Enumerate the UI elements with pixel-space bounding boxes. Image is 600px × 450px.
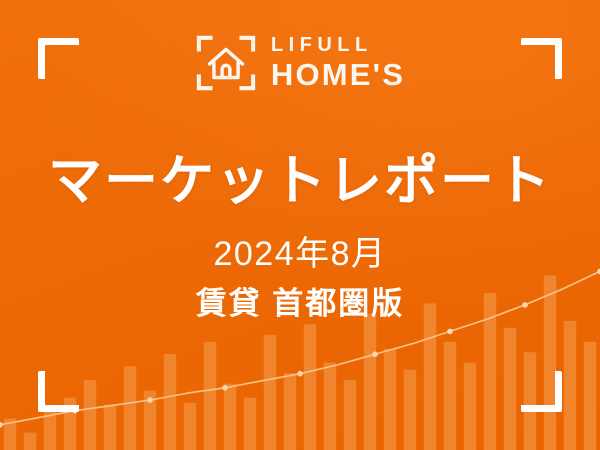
chart-bar [224, 384, 236, 450]
chart-bar [344, 380, 356, 450]
chart-bar [584, 342, 596, 450]
chart-bar [304, 324, 316, 450]
chart-bar [284, 373, 296, 450]
chart-bar [504, 328, 516, 450]
house-in-focus-frame-icon [195, 32, 257, 94]
report-edition: 賃貸 首都圏版 [0, 285, 600, 322]
chart-trend-marker [147, 397, 153, 403]
chart-bar [84, 380, 96, 450]
chart-bar [104, 405, 116, 450]
corner-bracket-bottom-right [521, 371, 562, 412]
chart-bar [444, 342, 456, 450]
chart-trend-marker [222, 385, 228, 391]
lifull-homes-logo: LIFULL HOME'S [0, 32, 600, 94]
logo-wordmark: LIFULL HOME'S [271, 35, 405, 92]
chart-bar [464, 363, 476, 450]
chart-bar [364, 314, 376, 450]
chart-bar [324, 363, 336, 450]
chart-bar [564, 321, 576, 450]
corner-bracket-bottom-left [38, 371, 79, 412]
chart-trend-marker [372, 352, 378, 358]
chart-bar [404, 370, 416, 450]
chart-trend-marker [297, 371, 303, 377]
chart-trend-marker [447, 329, 453, 335]
chart-trend-marker [0, 422, 3, 428]
chart-bar [244, 398, 256, 450]
logo-lifull-text: LIFULL [271, 35, 405, 56]
chart-bar [124, 366, 136, 450]
report-title: マーケットレポート [0, 150, 600, 212]
chart-bar [24, 433, 36, 450]
chart-bar [264, 335, 276, 450]
chart-bar [164, 354, 176, 450]
logo-homes-text: HOME'S [271, 59, 405, 92]
chart-bar [384, 349, 396, 450]
report-date: 2024年8月 [0, 234, 600, 275]
headline-block: マーケットレポート 2024年8月 賃貸 首都圏版 [0, 150, 600, 322]
chart-bar [184, 403, 196, 450]
chart-bar [204, 342, 216, 450]
chart-bar [424, 303, 436, 450]
market-report-cover: LIFULL HOME'S マーケットレポート 2024年8月 賃貸 首都圏版 [0, 0, 600, 450]
